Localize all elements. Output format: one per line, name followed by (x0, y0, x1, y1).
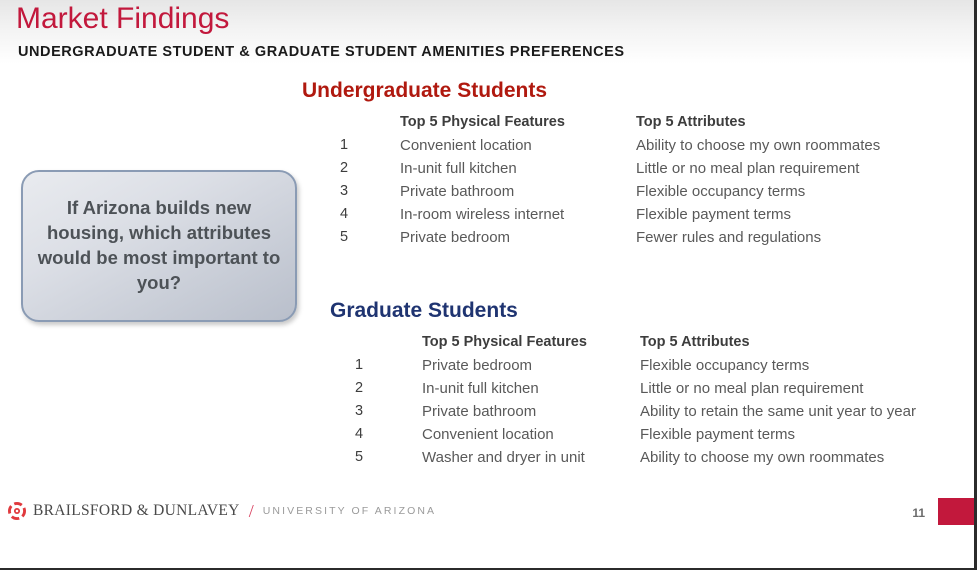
table-row: 1 Private bedroom Flexible occupancy ter… (355, 357, 916, 380)
cell-feature: Convenient location (400, 137, 636, 160)
cell-rank: 5 (340, 229, 400, 252)
column-header-features: Top 5 Physical Features (422, 334, 640, 357)
column-header-attributes: Top 5 Attributes (640, 334, 916, 357)
slide-footer: BRAILSFORD & DUNLAVEY / UNIVERSITY OF AR… (8, 500, 436, 522)
cell-rank: 5 (355, 449, 422, 472)
table-row: 3 Private bathroom Ability to retain the… (355, 403, 916, 426)
cell-rank: 2 (340, 160, 400, 183)
cell-attribute: Ability to choose my own roommates (640, 449, 916, 472)
table-row: 3 Private bathroom Flexible occupancy te… (340, 183, 880, 206)
cell-attribute: Flexible occupancy terms (640, 357, 916, 380)
cell-rank: 4 (355, 426, 422, 449)
column-header-attributes: Top 5 Attributes (636, 114, 880, 137)
table-header-row: Top 5 Physical Features Top 5 Attributes (340, 114, 880, 137)
cell-feature: Private bathroom (400, 183, 636, 206)
column-header-rank (340, 114, 400, 137)
cell-rank: 3 (340, 183, 400, 206)
cell-feature: Private bathroom (422, 403, 640, 426)
corner-accent-block (938, 498, 974, 525)
undergraduate-rankings-table: Top 5 Physical Features Top 5 Attributes… (340, 114, 880, 252)
cell-feature: Convenient location (422, 426, 640, 449)
cell-rank: 4 (340, 206, 400, 229)
cell-attribute: Flexible payment terms (640, 426, 916, 449)
table-row: 4 Convenient location Flexible payment t… (355, 426, 916, 449)
cell-rank: 2 (355, 380, 422, 403)
table-row: 1 Convenient location Ability to choose … (340, 137, 880, 160)
cell-feature: Private bedroom (400, 229, 636, 252)
page-subtitle: UNDERGRADUATE STUDENT & GRADUATE STUDENT… (18, 44, 625, 60)
footer-separator: / (249, 501, 254, 522)
table-row: 4 In-room wireless internet Flexible pay… (340, 206, 880, 229)
presentation-slide: Market Findings UNDERGRADUATE STUDENT & … (0, 0, 977, 570)
table-row: 5 Washer and dryer in unit Ability to ch… (355, 449, 916, 472)
firm-name-label: BRAILSFORD & DUNLAVEY (33, 502, 240, 520)
column-header-features: Top 5 Physical Features (400, 114, 636, 137)
callout-question-text: If Arizona builds new housing, which att… (23, 196, 295, 296)
cell-attribute: Fewer rules and regulations (636, 229, 880, 252)
table-row: 2 In-unit full kitchen Little or no meal… (355, 380, 916, 403)
table-row: 2 In-unit full kitchen Little or no meal… (340, 160, 880, 183)
cell-attribute: Ability to choose my own roommates (636, 137, 880, 160)
cell-feature: In-unit full kitchen (400, 160, 636, 183)
cell-attribute: Ability to retain the same unit year to … (640, 403, 916, 426)
cell-feature: In-unit full kitchen (422, 380, 640, 403)
undergraduate-section-heading: Undergraduate Students (302, 79, 547, 103)
cell-attribute: Little or no meal plan requirement (640, 380, 916, 403)
table-header-row: Top 5 Physical Features Top 5 Attributes (355, 334, 916, 357)
cell-feature: In-room wireless internet (400, 206, 636, 229)
table-row: 5 Private bedroom Fewer rules and regula… (340, 229, 880, 252)
column-header-rank (355, 334, 422, 357)
cell-feature: Washer and dryer in unit (422, 449, 640, 472)
cell-attribute: Flexible payment terms (636, 206, 880, 229)
cell-attribute: Little or no meal plan requirement (636, 160, 880, 183)
cell-rank: 1 (355, 357, 422, 380)
callout-box: If Arizona builds new housing, which att… (21, 170, 297, 322)
cell-rank: 1 (340, 137, 400, 160)
page-title: Market Findings (16, 2, 229, 36)
page-number: 11 (912, 506, 925, 520)
cell-attribute: Flexible occupancy terms (636, 183, 880, 206)
cell-feature: Private bedroom (422, 357, 640, 380)
client-name-label: UNIVERSITY OF ARIZONA (263, 505, 436, 517)
brailsford-dunlavey-logo-icon (8, 502, 26, 520)
graduate-section-heading: Graduate Students (330, 299, 518, 323)
graduate-rankings-table: Top 5 Physical Features Top 5 Attributes… (355, 334, 916, 472)
cell-rank: 3 (355, 403, 422, 426)
